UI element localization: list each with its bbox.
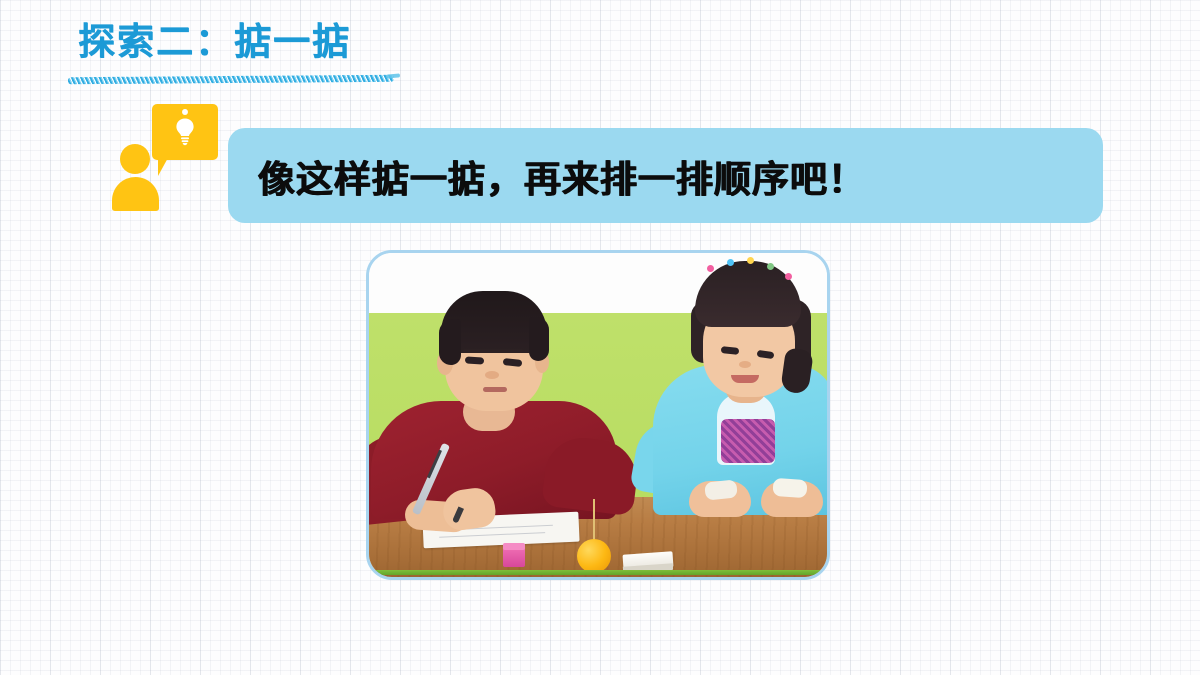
- boy-left-eye: [465, 356, 484, 364]
- boy-nose: [485, 371, 499, 379]
- object-in-right-hand: [772, 478, 807, 498]
- photo-bottom-edge: [369, 570, 827, 575]
- person-head-icon: [120, 144, 150, 174]
- orange-ball-object: [577, 539, 611, 573]
- instruction-text: 像这样掂一掂，再来排一排顺序吧！: [258, 149, 866, 203]
- hair-clip-icon: [767, 263, 774, 270]
- girl-mouth: [731, 375, 759, 383]
- boy-mouth: [483, 387, 507, 392]
- slide-canvas: 探索二：掂一掂: [0, 0, 1200, 675]
- hair-clip-icon: [727, 259, 734, 266]
- hair-clip-icon: [707, 265, 714, 272]
- hair-clip-icon: [747, 257, 754, 264]
- page-title-text: 探索二：掂一掂: [78, 12, 351, 72]
- pink-cube-object: [503, 547, 525, 567]
- lesson-photo: [366, 250, 830, 580]
- ball-string: [593, 499, 595, 543]
- photo-scene: [369, 253, 827, 577]
- speaker-hint-icon-group: [112, 100, 224, 210]
- title-underline-decoration: [68, 74, 398, 84]
- hair-clip-icon: [785, 273, 792, 280]
- boy-hair-side-right: [529, 317, 549, 361]
- boy-brows: [463, 349, 523, 353]
- girl-shirt-sequin-print: [721, 419, 775, 463]
- person-body-icon: [112, 177, 159, 211]
- lightbulb-icon: [162, 108, 208, 154]
- girl-nose: [739, 361, 751, 368]
- pink-cube-top-face: [503, 543, 525, 550]
- page-title: 探索二：掂一掂: [66, 12, 486, 90]
- person-silhouette-icon: [112, 144, 162, 206]
- brush-stroke-tail-icon: [386, 73, 400, 78]
- boy-hair-side-left: [439, 319, 461, 365]
- instruction-banner: 像这样掂一掂，再来排一排顺序吧！: [228, 128, 1103, 223]
- brush-stroke-icon: [68, 75, 394, 85]
